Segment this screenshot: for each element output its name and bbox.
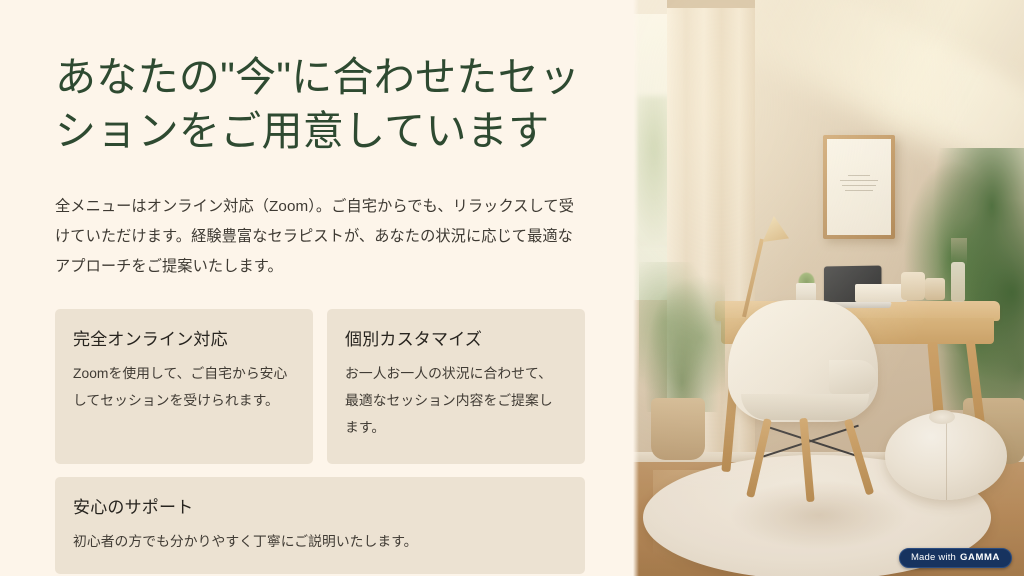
desk-books <box>855 284 907 302</box>
small-plant <box>639 262 725 412</box>
page-title: あなたの"今"に合わせたセッションをご用意しています <box>55 50 585 158</box>
pouf-knot <box>929 410 955 424</box>
chair-seat <box>741 394 869 420</box>
intro-paragraph: 全メニューはオンライン対応（Zoom）。ご自宅からでも、リラックスして受けていた… <box>55 192 585 281</box>
chair-arm <box>829 360 877 394</box>
made-with-gamma-badge[interactable]: Made with GAMMA <box>899 548 1012 569</box>
desk-vase <box>951 262 965 302</box>
feature-card-body: お一人お一人の状況に合わせて、最適なセッション内容をご提案します。 <box>345 361 565 442</box>
wall-art-text-lines <box>838 171 880 195</box>
feature-card-title: 安心のサポート <box>73 497 565 520</box>
home-office-illustration <box>633 0 1024 576</box>
feature-card-body: 初心者の方でも分かりやすく丁寧にご説明いたします。 <box>73 529 565 556</box>
floor-pouf <box>885 412 1007 500</box>
badge-prefix-label: Made with <box>911 553 956 563</box>
feature-card-title: 完全オンライン対応 <box>73 329 293 352</box>
desk-jar <box>901 272 925 300</box>
feature-card-row: 完全オンライン対応 Zoomを使用して、ご自宅から安心してセッションを受けられま… <box>55 309 585 464</box>
content-pane: あなたの"今"に合わせたセッションをご用意しています 全メニューはオンライン対応… <box>0 0 633 576</box>
feature-card-custom: 個別カスタマイズ お一人お一人の状況に合わせて、最適なセッション内容をご提案しま… <box>327 309 585 464</box>
feature-card-title: 個別カスタマイズ <box>345 329 565 352</box>
small-plant-pot <box>651 398 705 460</box>
wall-art-frame <box>823 135 895 239</box>
gamma-wordmark: GAMMA <box>960 553 1000 563</box>
pouf-seam <box>946 412 947 500</box>
feature-card-body: Zoomを使用して、ご自宅から安心してセッションを受けられます。 <box>73 361 293 415</box>
hero-photo: Made with GAMMA <box>633 0 1024 576</box>
feature-card-support: 安心のサポート 初心者の方でも分かりやすく丁寧にご説明いたします。 <box>55 477 585 574</box>
rug-shadow <box>729 480 909 550</box>
feature-card-online: 完全オンライン対応 Zoomを使用して、ご自宅から安心してセッションを受けられま… <box>55 309 313 464</box>
slide: あなたの"今"に合わせたセッションをご用意しています 全メニューはオンライン対応… <box>0 0 1024 576</box>
curtain-rod <box>667 0 755 8</box>
desk-jar <box>925 278 945 300</box>
